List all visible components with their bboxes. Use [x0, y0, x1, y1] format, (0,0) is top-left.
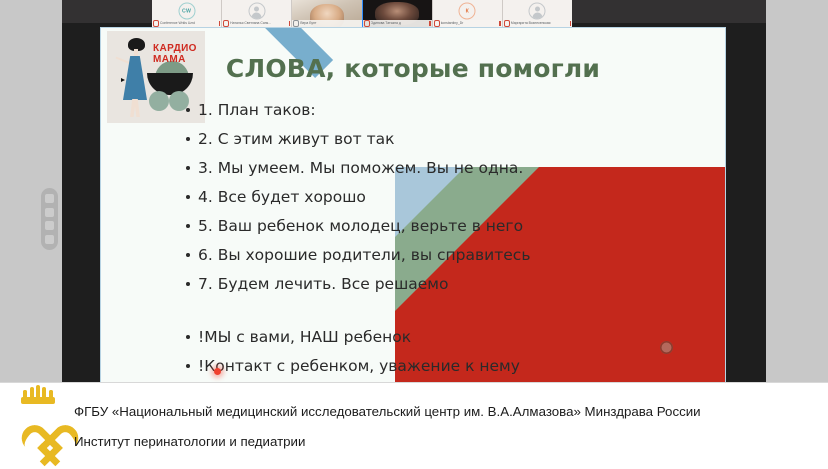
participant-name: Conference Wrkls Uzrd — [160, 20, 218, 27]
participant-tile[interactable]: Маргарита Вознесенская — [503, 0, 572, 27]
participant-tile-active-speaker[interactable]: Вера Бунт — [292, 0, 362, 27]
status-flag-icon — [219, 21, 221, 26]
participant-name: Наталья Светлана Санк... — [230, 20, 288, 27]
bullet-dot-icon — [186, 335, 190, 339]
participant-tile[interactable]: Одинова Татьяна д — [363, 0, 433, 27]
participant-tile[interactable]: Наталья Светлана Санк... — [222, 0, 292, 27]
bullet-text: 3. Мы умеем. Мы поможем. Вы не одна. — [198, 154, 523, 183]
crown-icon — [21, 388, 55, 404]
participant-filmstrip[interactable]: CW Conference Wrkls Uzrd Наталья Светлан… — [152, 0, 572, 27]
bullet-dot-icon — [186, 166, 190, 170]
player-icon-4[interactable] — [45, 235, 54, 244]
laser-pointer-dot — [214, 368, 221, 375]
participant-name: Маргарита Вознесенская — [511, 20, 569, 27]
participant-nameplate: Conference Wrkls Uzrd — [152, 20, 221, 27]
bullet-dot-icon — [186, 137, 190, 141]
bullet-dot-icon — [186, 224, 190, 228]
participant-tile[interactable]: CW Conference Wrkls Uzrd — [152, 0, 222, 27]
participant-tile[interactable]: К konstantiny_Dr — [433, 0, 503, 27]
bullet-dot-icon — [186, 253, 190, 257]
bullet-item: 6. Вы хорошие родители, вы справитесь — [186, 241, 701, 270]
avatar-person-icon — [248, 3, 265, 20]
almazov-centre-logo — [8, 388, 68, 464]
player-side-toolbar[interactable] — [41, 188, 58, 250]
player-icon-2[interactable] — [45, 208, 54, 217]
logo-wordmark-line1: КАРДИО — [153, 43, 197, 54]
bullet-dot-icon — [186, 311, 190, 315]
participant-nameplate: Маргарита Вознесенская — [503, 20, 572, 27]
bullet-dot-icon — [186, 282, 190, 286]
mic-icon — [293, 20, 299, 27]
logo-stroller-wheel — [149, 91, 169, 111]
status-flag-icon — [289, 21, 291, 26]
participant-nameplate: konstantiny_Dr — [433, 20, 502, 27]
bullet-text: 7. Будем лечить. Все решаемо — [198, 270, 448, 299]
bullet-item-empty — [186, 299, 701, 323]
bullet-dot-icon — [186, 364, 190, 368]
institution-banner: ФГБУ «Национальный медицинский исследова… — [0, 382, 828, 469]
participant-nameplate: Одинова Татьяна д — [363, 20, 432, 27]
mic-muted-icon — [153, 20, 159, 27]
slide-title: СЛОВА, которые помогли — [101, 54, 725, 83]
bullet-item: 7. Будем лечить. Все решаемо — [186, 270, 701, 299]
player-icon-3[interactable] — [45, 221, 54, 230]
mic-muted-icon — [223, 20, 229, 27]
participant-name: konstantiny_Dr — [441, 20, 499, 27]
bullet-item: !МЫ с вами, НАШ ребенок — [186, 323, 701, 352]
bullet-text: 6. Вы хорошие родители, вы справитесь — [198, 241, 530, 270]
avatar: К — [459, 3, 476, 20]
bullet-item: 3. Мы умеем. Мы поможем. Вы не одна. — [186, 154, 701, 183]
bullet-text: 1. План таков: — [198, 96, 316, 125]
participant-nameplate: Наталья Светлана Санк... — [222, 20, 291, 27]
bullet-text: 2. С этим живут вот так — [198, 125, 394, 154]
heart-icon — [10, 404, 66, 462]
status-flag-icon — [429, 21, 431, 26]
bullet-text: 5. Ваш ребенок молодец, верьте в него — [198, 212, 523, 241]
player-icon-1[interactable] — [45, 194, 54, 203]
institution-name-line2: Институт перинатологии и педиатрии — [74, 427, 814, 457]
institution-banner-text: ФГБУ «Национальный медицинский исследова… — [74, 397, 814, 457]
bullet-item: !Контакт с ребенком, уважение к нему — [186, 352, 701, 381]
bullet-dot-icon — [186, 108, 190, 112]
screen-share-window: CW Conference Wrkls Uzrd Наталья Светлан… — [0, 0, 828, 469]
bullet-text: 4. Все будет хорошо — [198, 183, 366, 212]
bullet-text: !МЫ с вами, НАШ ребенок — [198, 323, 411, 352]
participant-nameplate: Вера Бунт — [292, 20, 361, 27]
mic-muted-icon — [434, 20, 440, 27]
participant-name: Вера Бунт — [300, 20, 360, 27]
presentation-slide: КАРДИО МАМА СЛОВА, которые помогли 1. Пл… — [100, 27, 726, 383]
avatar: CW — [178, 3, 195, 20]
mic-muted-icon — [504, 20, 510, 27]
participant-name: Одинова Татьяна д — [371, 20, 429, 27]
slide-bullet-list: 1. План таков: 2. С этим живут вот так 3… — [186, 96, 701, 381]
avatar-person-icon — [529, 3, 546, 20]
logo-figure-legs — [128, 99, 142, 117]
bullet-item: 1. План таков: — [186, 96, 701, 125]
bullet-text: !Контакт с ребенком, уважение к нему — [198, 352, 520, 381]
status-flag-icon — [570, 21, 572, 26]
institution-name-line1: ФГБУ «Национальный медицинский исследова… — [74, 397, 814, 427]
bullet-dot-icon — [186, 195, 190, 199]
mic-muted-icon — [364, 20, 370, 27]
bullet-item: 5. Ваш ребенок молодец, верьте в него — [186, 212, 701, 241]
bullet-item: 4. Все будет хорошо — [186, 183, 701, 212]
bullet-item: 2. С этим живут вот так — [186, 125, 701, 154]
status-flag-icon — [499, 21, 501, 26]
